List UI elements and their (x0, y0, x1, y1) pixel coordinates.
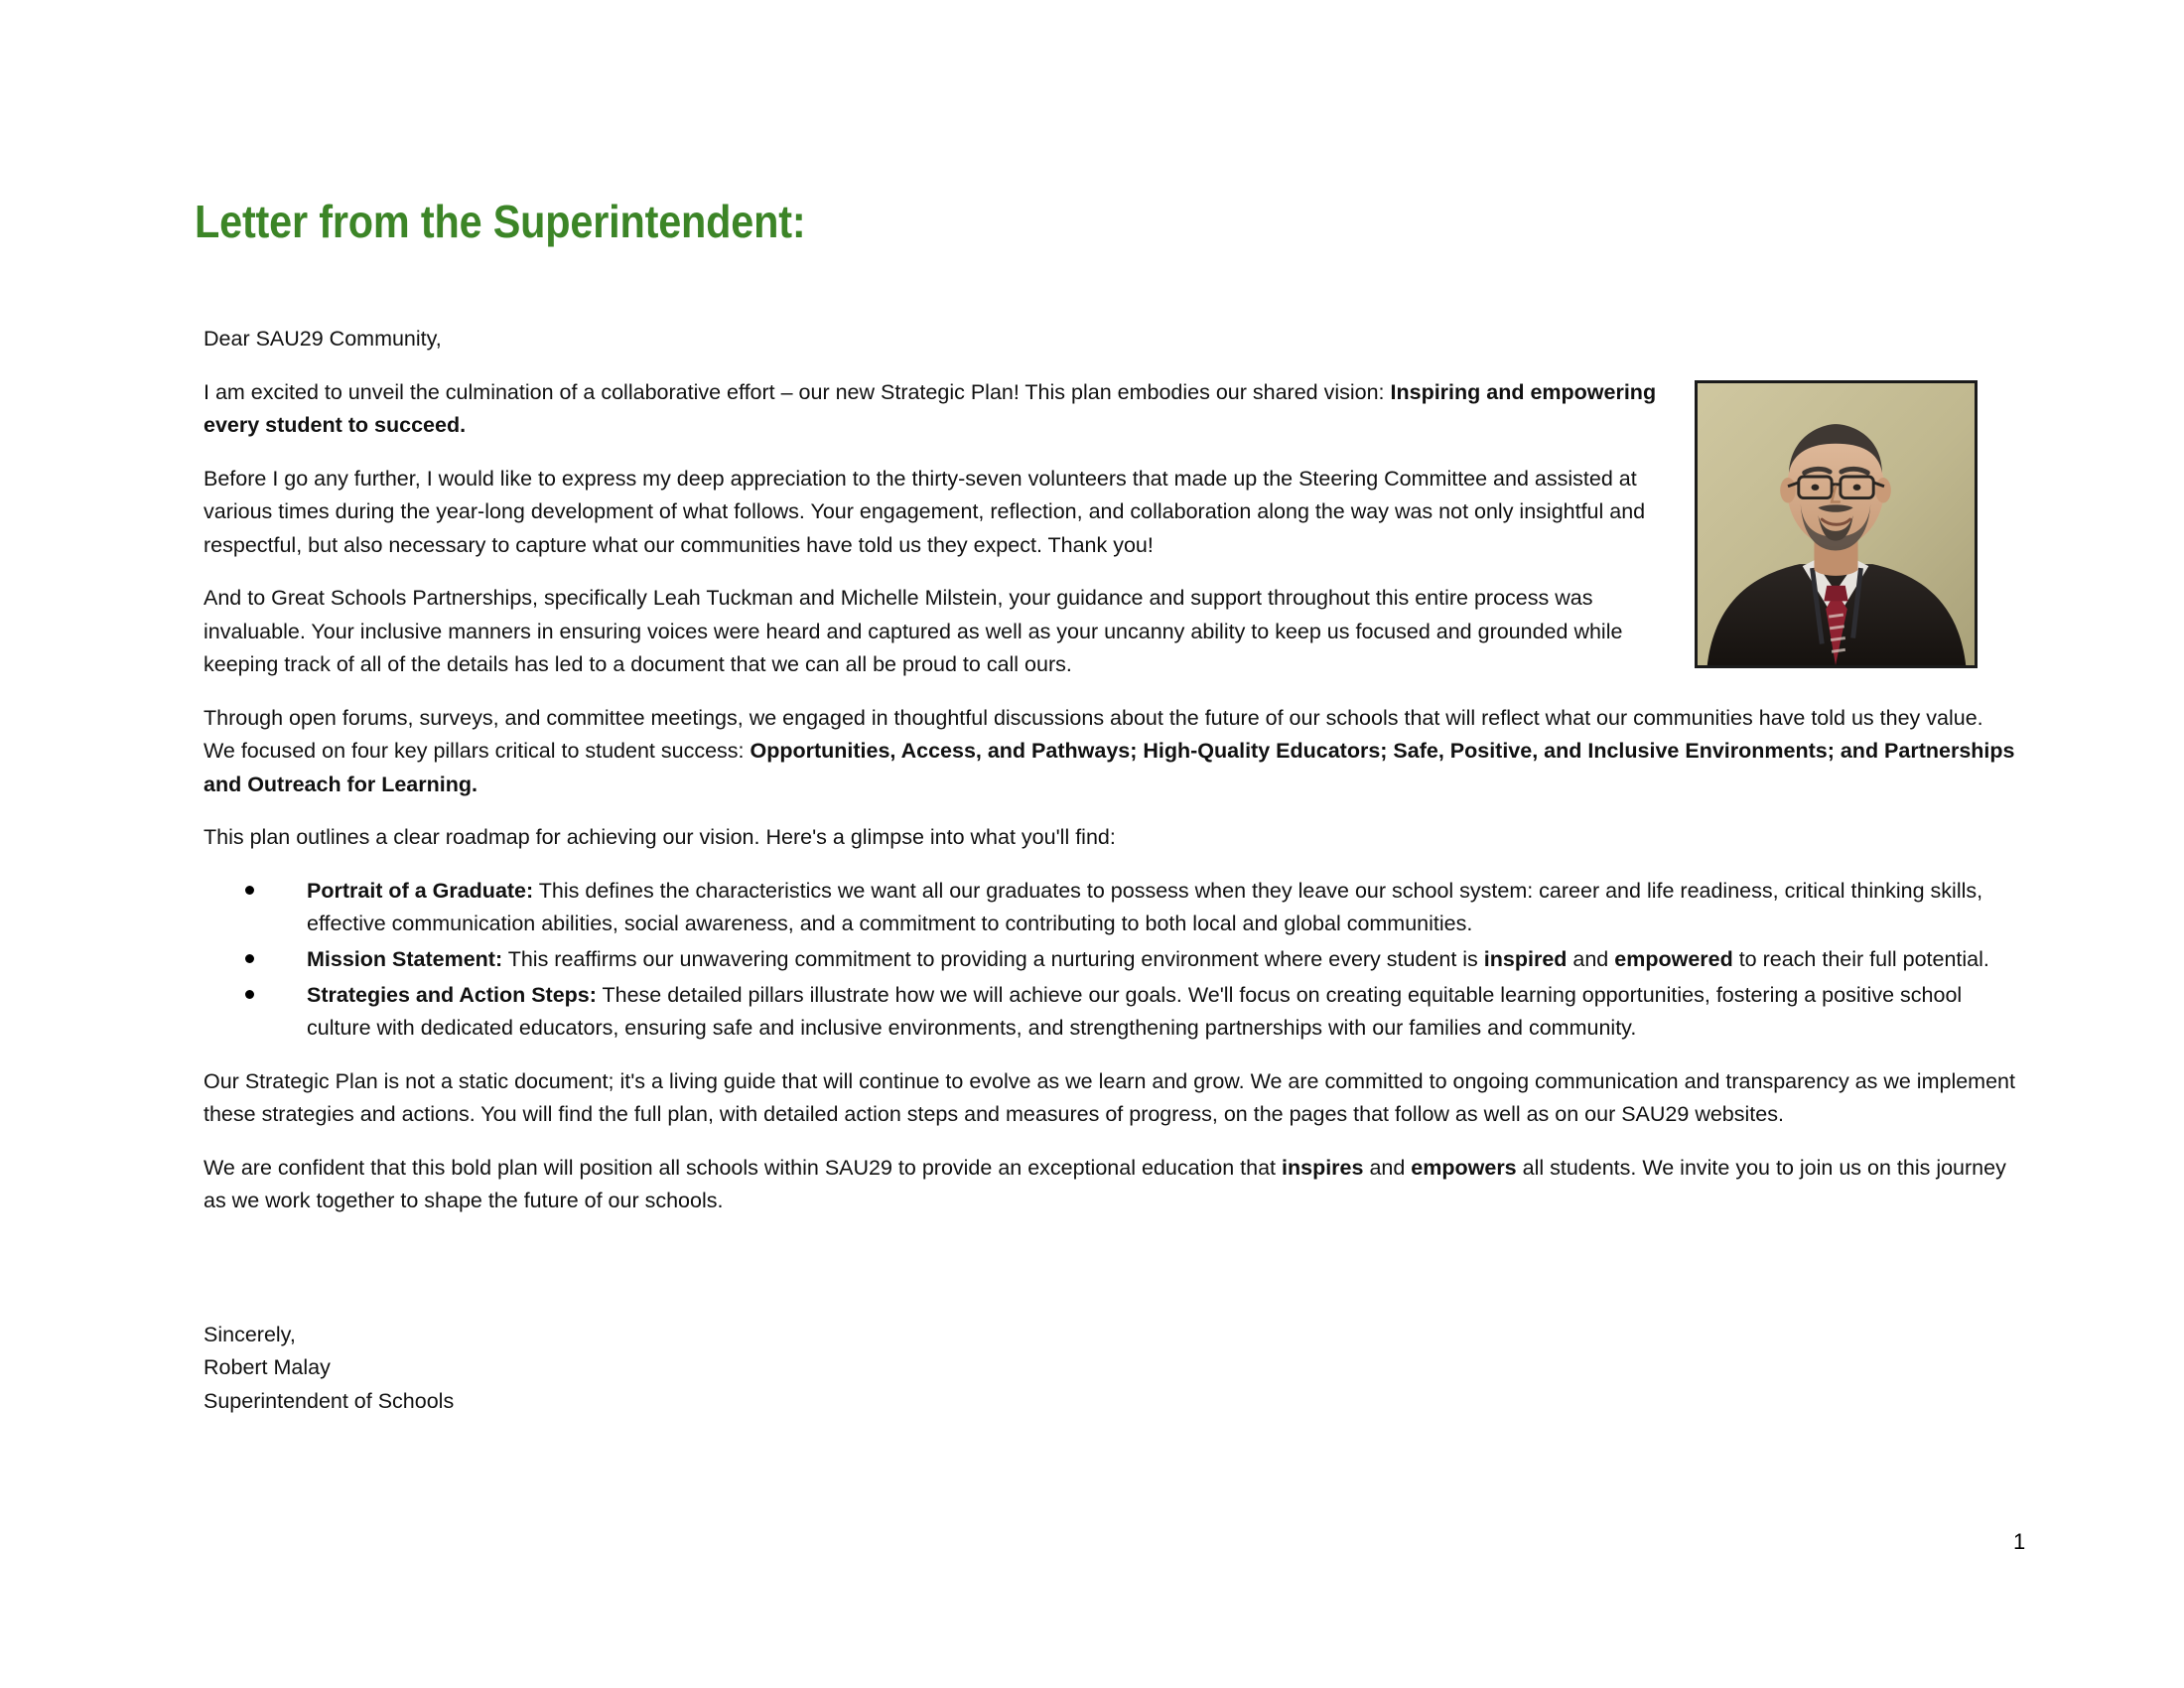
signature-block: Sincerely, Robert Malay Superintendent o… (204, 1319, 454, 1418)
paragraph-intro-lead: I am excited to unveil the culmination o… (204, 380, 1391, 404)
document-page: Letter from the Superintendent: (0, 0, 2184, 1688)
bullet-bold-inspired: inspired (1484, 947, 1568, 971)
bullet-dot-icon (245, 990, 254, 999)
signature-name: Robert Malay (204, 1351, 454, 1384)
signature-role: Superintendent of Schools (204, 1385, 454, 1418)
bullet-label-mission-statement: Mission Statement: (307, 947, 502, 971)
paragraph-four-pillars: Through open forums, surveys, and commit… (204, 702, 2020, 802)
paragraph-confidence-lead: We are confident that this bold plan wil… (204, 1156, 1282, 1180)
bold-inspires: inspires (1282, 1156, 1363, 1180)
bullet-text-mission-c: to reach their full potential. (1733, 947, 1989, 971)
bullet-dot-icon (245, 954, 254, 963)
paragraph-intro: I am excited to unveil the culmination o… (204, 376, 1673, 443)
list-item: Strategies and Action Steps: These detai… (204, 979, 2020, 1046)
list-item: Mission Statement: This reaffirms our un… (204, 943, 2020, 977)
signature-sincerely: Sincerely, (204, 1319, 454, 1351)
bullet-text-mission-a: This reaffirms our unwavering commitment… (502, 947, 1484, 971)
bullet-text-mission-b: and (1567, 947, 1614, 971)
paragraph-confidence: We are confident that this bold plan wil… (204, 1152, 2020, 1218)
list-item: Portrait of a Graduate: This defines the… (204, 875, 2020, 941)
bullet-text-portrait-of-a-graduate: This defines the characteristics we want… (307, 879, 1982, 936)
letter-body: Dear SAU29 Community, I am excited to un… (204, 323, 2020, 1238)
bullet-label-portrait-of-a-graduate: Portrait of a Graduate: (307, 879, 533, 903)
bullet-bold-empowered: empowered (1614, 947, 1732, 971)
page-title: Letter from the Superintendent: (195, 195, 805, 248)
page-number: 1 (2013, 1529, 2025, 1555)
paragraph-living-document: Our Strategic Plan is not a static docum… (204, 1065, 2020, 1132)
bullet-dot-icon (245, 886, 254, 895)
paragraph-confidence-mid: and (1363, 1156, 1411, 1180)
paragraph-roadmap: This plan outlines a clear roadmap for a… (204, 821, 2020, 855)
paragraph-great-schools-partnerships: And to Great Schools Partnerships, speci… (204, 582, 1673, 682)
salutation: Dear SAU29 Community, (204, 323, 2020, 356)
glimpse-bullet-list: Portrait of a Graduate: This defines the… (204, 875, 2020, 1046)
bold-empowers: empowers (1411, 1156, 1516, 1180)
paragraph-steering-committee: Before I go any further, I would like to… (204, 463, 1673, 563)
bullet-label-strategies-and-action-steps: Strategies and Action Steps: (307, 983, 597, 1007)
